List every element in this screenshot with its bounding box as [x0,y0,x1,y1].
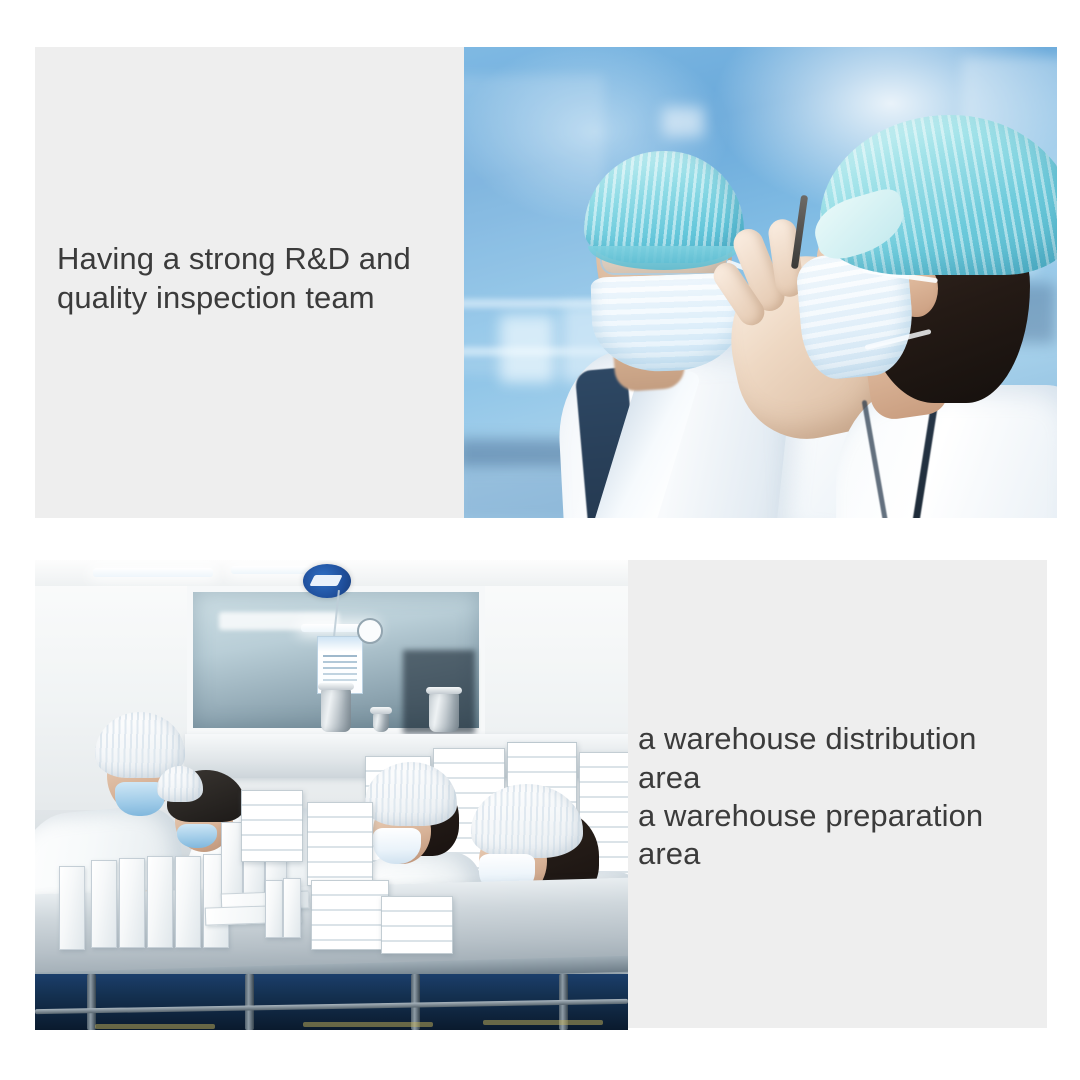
top-caption-panel: Having a strong R&D and quality inspecti… [35,47,464,518]
warehouse-scene-background [35,560,628,1030]
carton-bottle-a [265,880,283,938]
steel-pot-a [321,688,351,732]
carton-stack-front-a [311,880,389,950]
page-root: Having a strong R&D and quality inspecti… [0,0,1080,1080]
floor-stripe-a [95,1024,215,1029]
table-leg-b [245,974,254,1030]
carton-row-a-1 [91,860,117,948]
carton-stack-mid-a [241,790,303,862]
warehouse-packing-photo [35,560,628,1030]
lab-ceiling-light [662,107,704,137]
carton-row-a-4 [175,856,201,948]
ceiling-light-a [93,568,213,577]
carton-stack-front-b [381,896,453,954]
table-leg-a [87,974,96,1030]
carton-row-a-3 [147,856,173,948]
lab-equipment-a [500,315,554,383]
carton-row-a-2 [119,858,145,948]
poster-text-lines [323,655,357,657]
bottom-caption-text: a warehouse distribution area a warehous… [638,720,1039,874]
carton-upright-b-1 [221,822,243,896]
carton-bottle-b [283,878,301,938]
ceiling-light-b [231,566,317,574]
lab-scene-background [464,47,1057,518]
floor-stripe-c [483,1020,603,1025]
bottom-caption-panel: a warehouse distribution area a warehous… [628,560,1047,1028]
lab-inspection-photo [464,47,1057,518]
lab-technician-left-hairnet [584,151,744,263]
top-caption-text: Having a strong R&D and quality inspecti… [57,240,411,317]
floor-stripe-b [303,1022,433,1027]
company-logo-badge [303,564,351,598]
top-section: Having a strong R&D and quality inspecti… [35,47,1057,518]
lab-technician-right-coat [836,385,1057,518]
bottom-section: a warehouse distribution area a warehous… [35,560,1047,1030]
steel-cup [373,712,389,732]
carton-stack-mid-b [307,802,373,886]
wall-clock [357,618,383,644]
carton-row-a-0 [59,866,85,950]
steel-pot-b [429,692,459,732]
